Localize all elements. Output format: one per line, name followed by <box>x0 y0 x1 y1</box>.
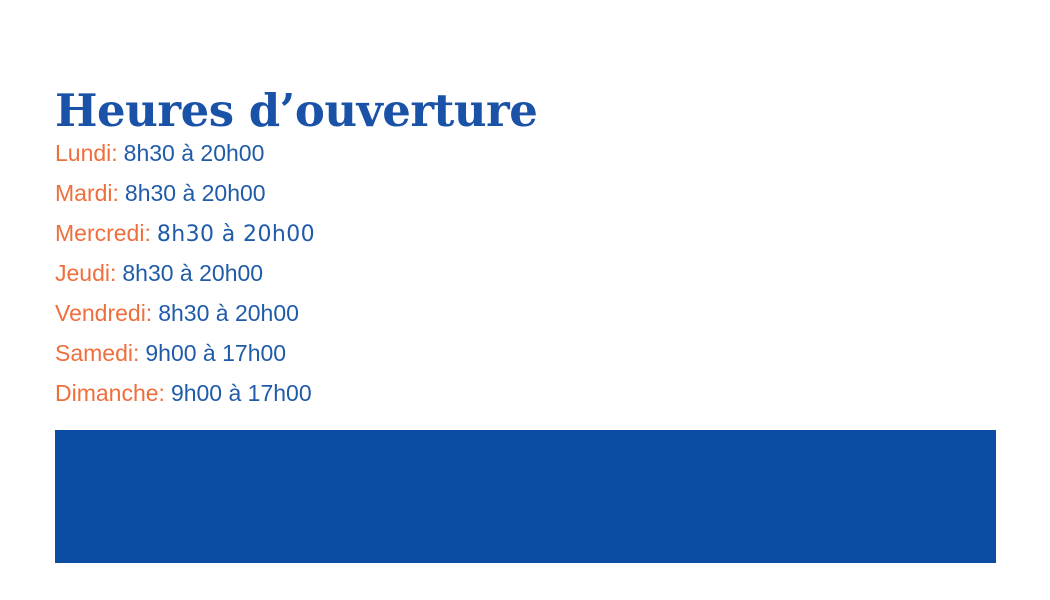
slide-canvas: Heures d’ouverture Lundi:8h30 à 20h00 Ma… <box>0 0 1050 600</box>
list-item: Mercredi:8h30 à 20h00 <box>55 213 655 253</box>
list-item: Vendredi:8h30 à 20h00 <box>55 293 655 333</box>
day-label: Jeudi: <box>55 260 116 286</box>
day-time: 8h30 à 20h00 <box>125 180 266 206</box>
day-label: Lundi: <box>55 140 118 166</box>
day-time: 8h30 à 20h00 <box>122 260 263 286</box>
day-label: Vendredi: <box>55 300 152 326</box>
list-item: Dimanche:9h00 à 17h00 <box>55 373 655 413</box>
list-item: Lundi:8h30 à 20h00 <box>55 133 655 173</box>
list-item: Jeudi:8h30 à 20h00 <box>55 253 655 293</box>
day-label: Mardi: <box>55 180 119 206</box>
day-label: Dimanche: <box>55 380 165 406</box>
list-item: Samedi:9h00 à 17h00 <box>55 333 655 373</box>
opening-hours-list: Lundi:8h30 à 20h00 Mardi:8h30 à 20h00 Me… <box>55 133 655 413</box>
day-label: Samedi: <box>55 340 139 366</box>
day-time: 9h00 à 17h00 <box>171 380 312 406</box>
day-time: 9h00 à 17h00 <box>145 340 286 366</box>
list-item: Mardi:8h30 à 20h00 <box>55 173 655 213</box>
day-time: 8h30 à 20h00 <box>124 140 265 166</box>
day-label: Mercredi: <box>55 220 151 246</box>
day-time: 8h30 à 20h00 <box>157 222 315 247</box>
blue-banner-block <box>55 430 996 563</box>
day-time: 8h30 à 20h00 <box>158 300 299 326</box>
page-title: Heures d’ouverture <box>55 87 537 134</box>
